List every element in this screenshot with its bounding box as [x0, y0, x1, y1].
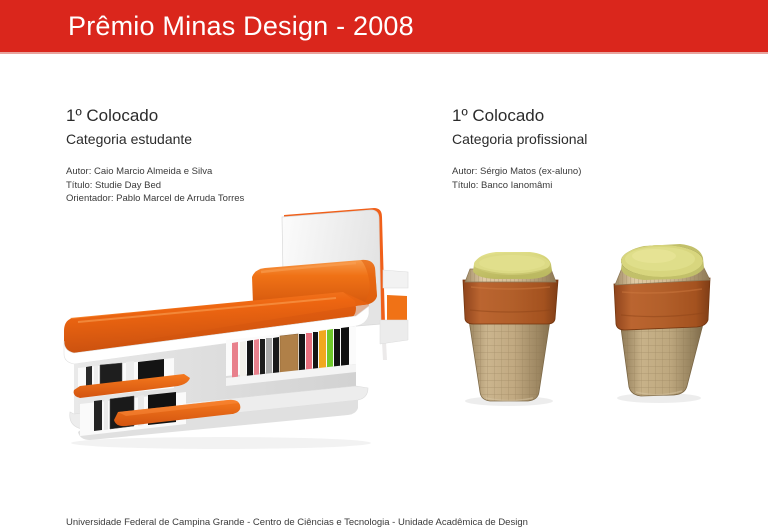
award-block-student: 1º Colocado Categoria estudante Autor: C… [66, 105, 416, 206]
credits-professional: Autor: Sérgio Matos (ex-aluno) Título: B… [452, 165, 752, 192]
rank-label-professional: 1º Colocado [452, 105, 752, 127]
footer-text: Universidade Federal de Campina Grande -… [66, 516, 528, 529]
credit-author-professional: Autor: Sérgio Matos (ex-aluno) [452, 165, 752, 179]
category-label-student: Categoria estudante [66, 129, 416, 149]
credit-author-student: Autor: Caio Marcio Almeida e Silva [66, 165, 416, 179]
award-block-professional: 1º Colocado Categoria profissional Autor… [452, 105, 752, 192]
credit-title-professional: Título: Banco Ianomâmi [452, 179, 752, 193]
header-underline [0, 52, 768, 54]
page-title: Prêmio Minas Design - 2008 [68, 9, 414, 43]
category-label-professional: Categoria profissional [452, 129, 752, 149]
stool-right [614, 244, 710, 403]
studie-day-bed-image [56, 200, 416, 450]
rank-label-student: 1º Colocado [66, 105, 416, 127]
credit-title-student: Título: Studie Day Bed [66, 179, 416, 193]
stool-left [463, 252, 558, 406]
banco-ianomami-image [438, 240, 748, 425]
slide-root: Prêmio Minas Design - 2008 1º Colocado C… [0, 0, 768, 531]
